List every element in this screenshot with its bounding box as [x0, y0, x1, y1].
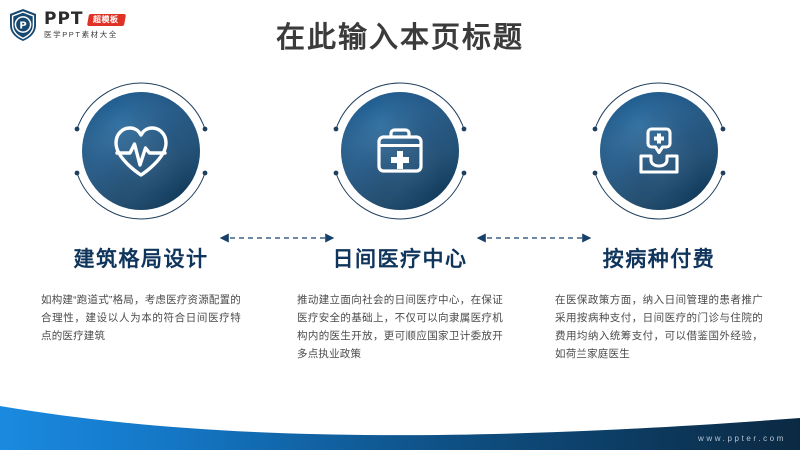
footer-wave-decoration [0, 388, 800, 450]
feature-column-3: 按病种付费 在医保政策方面，纳入日间管理的患者推广采用按病种支付，日间医疗的门诊… [536, 86, 782, 363]
icon-circle-2[interactable] [335, 86, 465, 216]
slide-canvas: P PPT 超模板 医学PPT素材大全 在此输入本页标题 [0, 0, 800, 450]
feature-body-2: 推动建立面向社会的日间医疗中心，在保证医疗安全的基础上，不仅可以向隶属医疗机构内… [297, 291, 503, 363]
feature-heading-2: 日间医疗中心 [277, 243, 523, 273]
icon-circle-1[interactable] [76, 86, 206, 216]
page-title: 在此输入本页标题 [0, 14, 800, 56]
first-aid-kit-icon [370, 123, 430, 179]
icon-circle-bg-1 [82, 92, 200, 210]
medical-pin-tray-icon [629, 123, 689, 179]
heartbeat-icon [110, 122, 172, 180]
content-columns: 建筑格局设计 如构建“跑道式”格局，考虑医疗资源配置的合理性，建设以人为本的符合… [0, 86, 800, 406]
icon-circle-3[interactable] [594, 86, 724, 216]
icon-circle-bg-2 [341, 92, 459, 210]
feature-column-2: 日间医疗中心 推动建立面向社会的日间医疗中心，在保证医疗安全的基础上，不仅可以向… [277, 86, 523, 363]
feature-column-1: 建筑格局设计 如构建“跑道式”格局，考虑医疗资源配置的合理性，建设以人为本的符合… [18, 86, 264, 345]
icon-circle-bg-3 [600, 92, 718, 210]
footer-website-url[interactable]: www.ppter.com [698, 434, 786, 443]
feature-heading-3: 按病种付费 [536, 243, 782, 273]
feature-body-3: 在医保政策方面，纳入日间管理的患者推广采用按病种支付，日间医疗的门诊与住院的费用… [555, 291, 763, 363]
feature-heading-1: 建筑格局设计 [18, 243, 264, 273]
feature-body-1: 如构建“跑道式”格局，考虑医疗资源配置的合理性，建设以人为本的符合日间医疗特点的… [41, 291, 241, 345]
